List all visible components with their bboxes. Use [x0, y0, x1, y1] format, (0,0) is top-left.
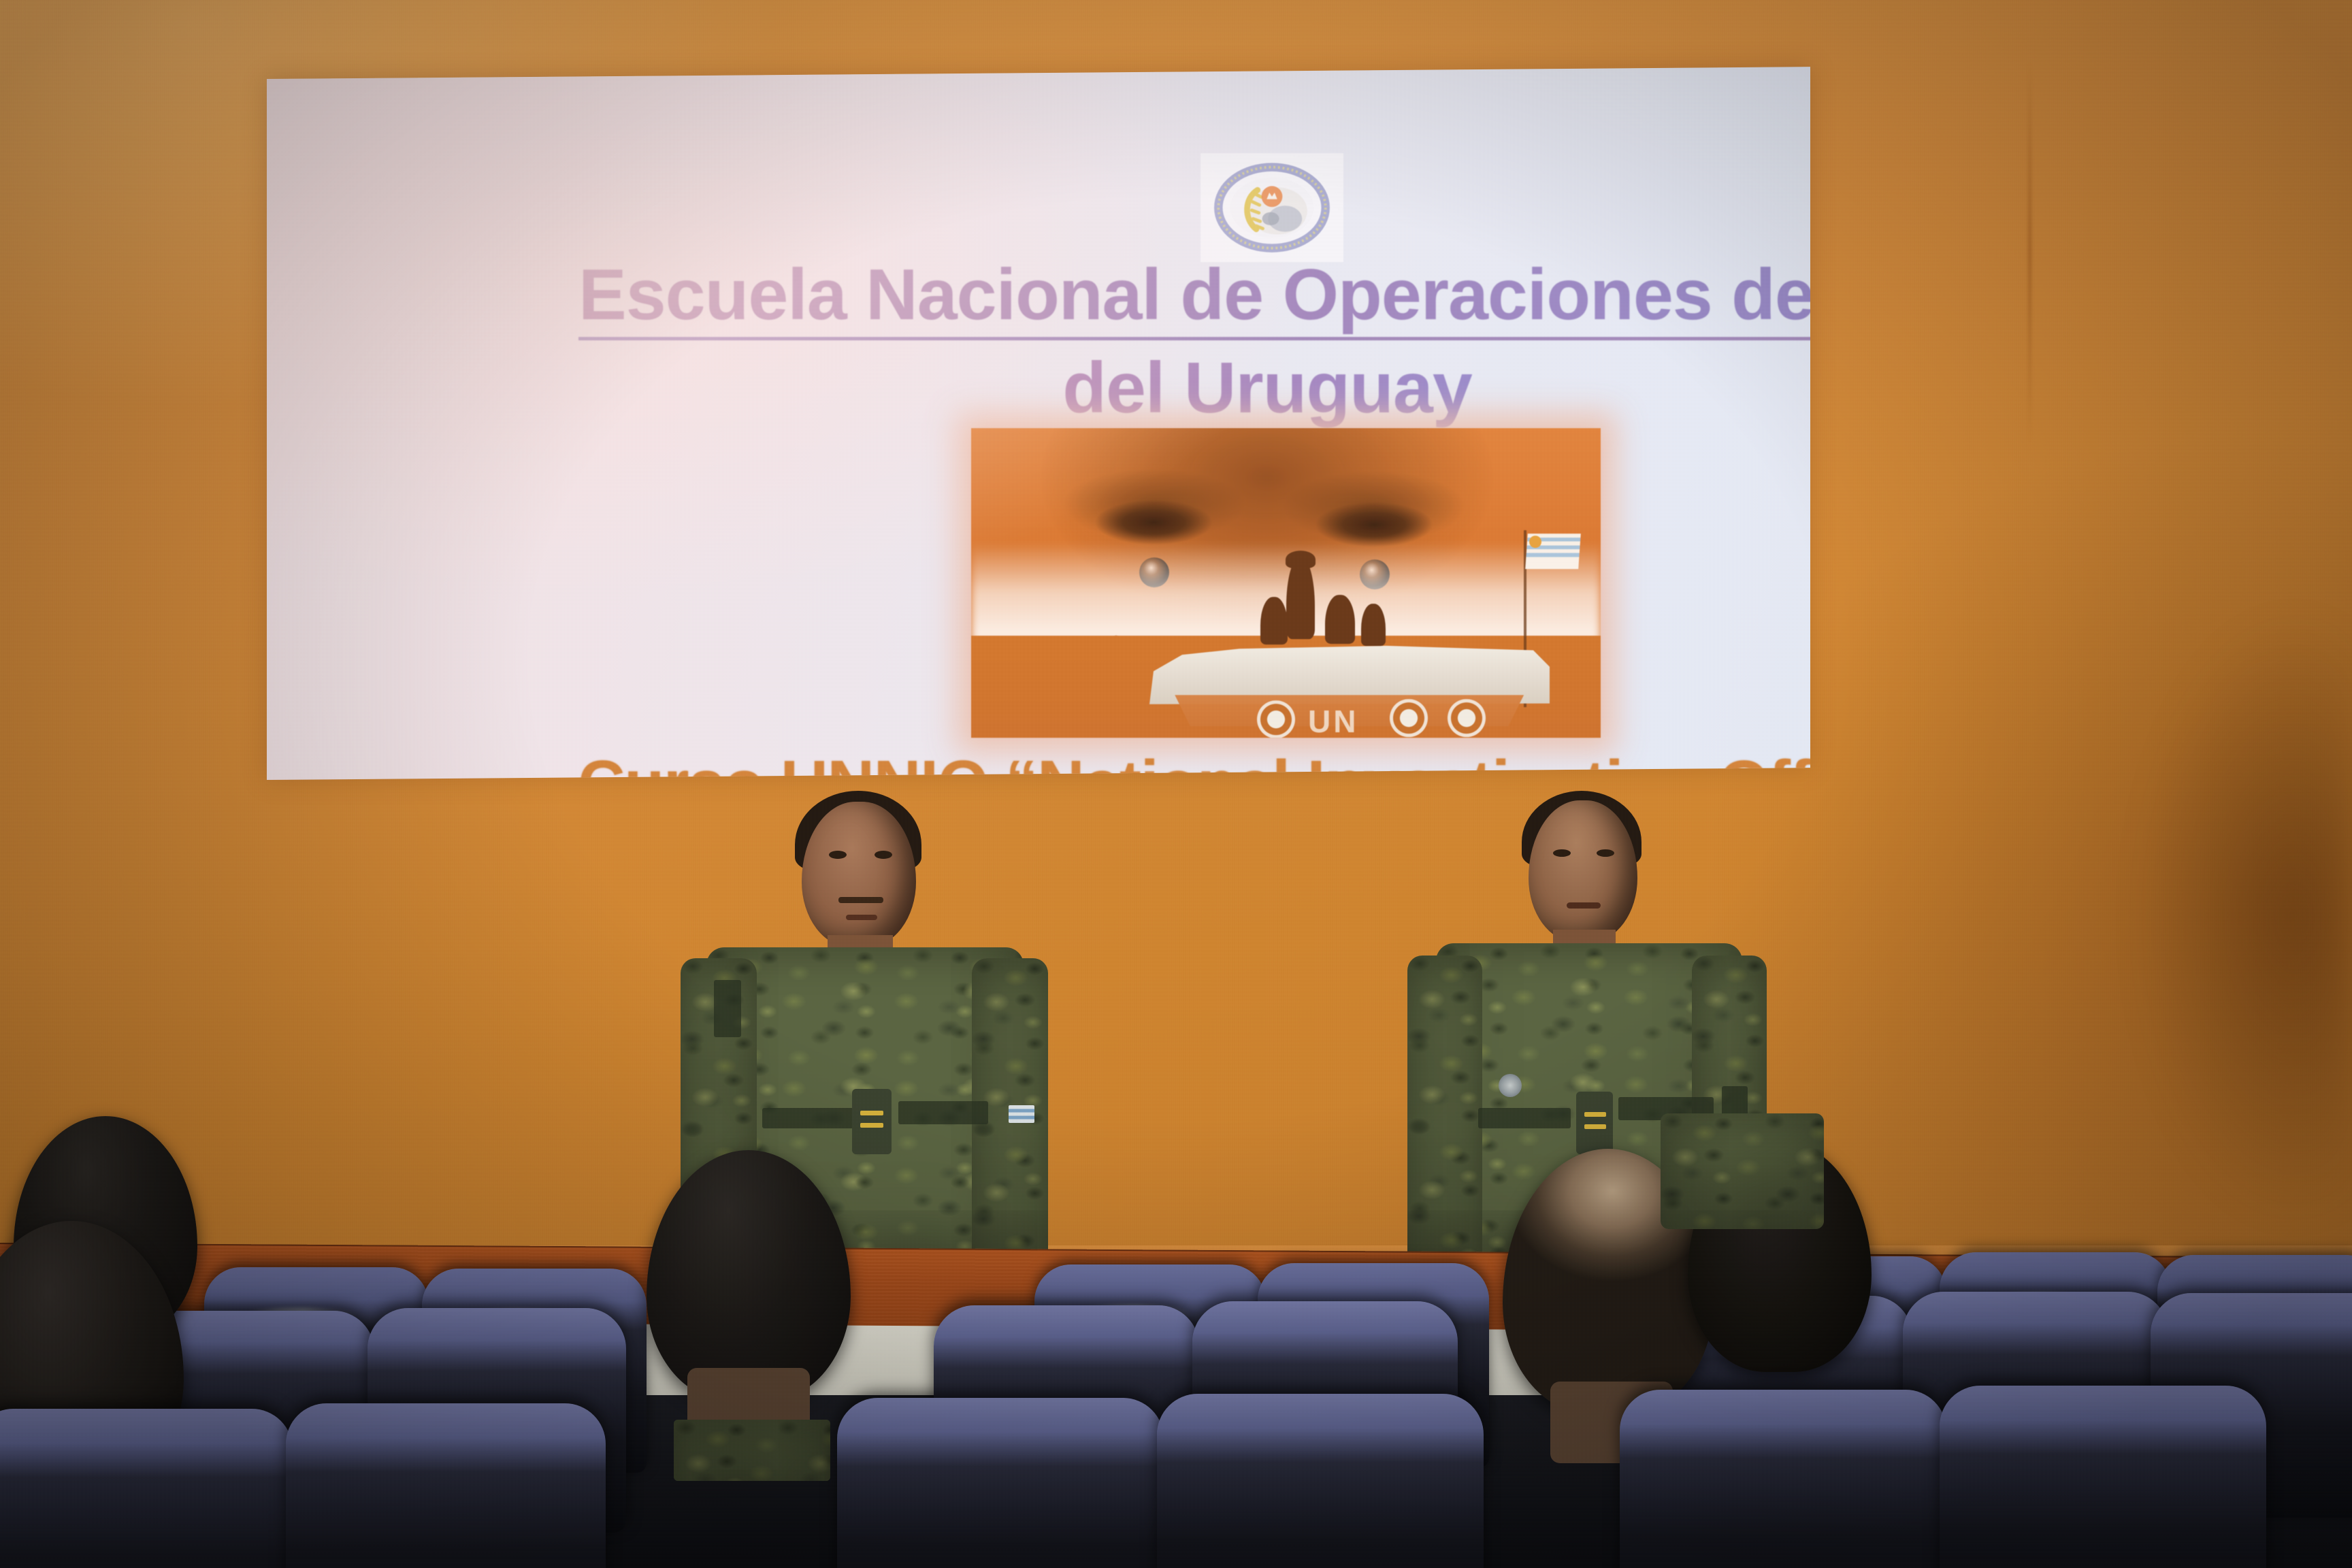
auditorium-seat[interactable]: [1157, 1394, 1484, 1568]
officer-right-eye: [1597, 849, 1614, 857]
slide-title-line2: del Uruguay: [1062, 350, 1472, 434]
auditorium-seat[interactable]: [837, 1398, 1164, 1568]
auditorium-seat[interactable]: [1940, 1386, 2266, 1568]
slide-title-line1: Escuela Nacional de Operaciones de Paz: [578, 257, 1810, 340]
slide-title-block: Escuela Nacional de Operaciones de Paz d…: [491, 257, 1810, 434]
peacekeeper-helmet: [1286, 551, 1316, 568]
peacekeeping-photo: UN: [971, 428, 1601, 738]
wall-shadow: [2121, 517, 2352, 1245]
officer-right-arm: [1407, 955, 1482, 1275]
officer-left-eye: [829, 851, 847, 859]
uruguay-flag-shoulder-patch: [1009, 1105, 1034, 1123]
vehicle-wheel: [1390, 699, 1428, 737]
officer-left-shoulder-patch: [714, 980, 741, 1037]
officer-right-head: [1529, 800, 1637, 942]
officer-right-unit-badge: [1499, 1074, 1522, 1097]
officer-right-eye: [1553, 849, 1571, 857]
peacekeeper-silhouette: [1286, 557, 1315, 639]
officer-left-rank-pip: [860, 1111, 883, 1115]
officer-right-mouth: [1567, 902, 1601, 909]
wall-seam: [2028, 61, 2031, 442]
audience-shoulder: [1661, 1113, 1824, 1229]
officer-left-eye: [875, 851, 892, 859]
peacekeeper-silhouette: [1260, 597, 1288, 644]
officer-right-rank-insignia: [1576, 1092, 1613, 1154]
auditorium-seat[interactable]: [1620, 1390, 1946, 1568]
auditorium-seat[interactable]: [286, 1403, 606, 1568]
peacekeeper-silhouette: [1361, 604, 1386, 646]
slide-content: Escuela Nacional de Operaciones de Paz d…: [267, 73, 1810, 774]
auditorium-seat[interactable]: [0, 1409, 293, 1568]
officer-left-rank-pip: [860, 1123, 883, 1128]
peacekeeper-silhouette: [1325, 595, 1355, 644]
projection-screen: Escuela Nacional de Operaciones de Paz d…: [267, 67, 1810, 780]
officer-left-mouth: [846, 915, 877, 920]
vehicle-wheel: [1448, 699, 1486, 737]
officer-left-moustache: [838, 897, 883, 903]
photograph-scene: Escuela Nacional de Operaciones de Paz d…: [0, 0, 2352, 1568]
audience-collar: [674, 1420, 830, 1481]
officer-left-head: [802, 802, 916, 947]
officer-right-name-tape: [1478, 1108, 1571, 1128]
vehicle-wheel: [1257, 700, 1295, 738]
officer-left-service-tape: [898, 1101, 988, 1124]
emblem-svg: [1207, 157, 1337, 259]
officer-right-rank-pip: [1584, 1112, 1606, 1117]
officer-right-rank-pip: [1584, 1124, 1606, 1129]
uruguay-sun-icon: [1529, 536, 1541, 548]
officer-left-rank-insignia: [852, 1089, 892, 1154]
officer-left-name-tape: [762, 1108, 855, 1128]
enopu-emblem-icon: [1200, 153, 1343, 262]
